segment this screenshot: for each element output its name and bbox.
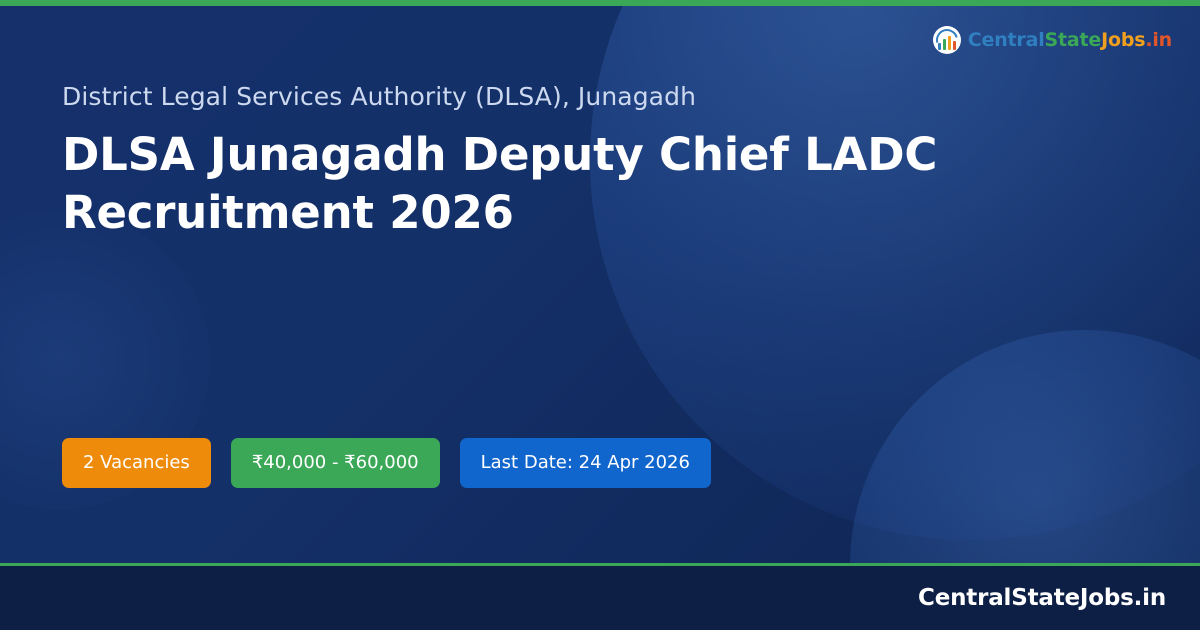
- logo-word-in: .in: [1145, 29, 1172, 51]
- organization-name: District Legal Services Authority (DLSA)…: [62, 82, 1042, 112]
- badge-last-date: Last Date: 24 Apr 2026: [460, 438, 711, 488]
- footer-bar: CentralStateJobs.in: [0, 566, 1200, 630]
- logo-word-jobs: Jobs: [1101, 29, 1145, 51]
- footer-site-name: CentralStateJobs.in: [918, 585, 1166, 611]
- poster-content: District Legal Services Authority (DLSA)…: [62, 82, 1042, 241]
- logo-word-central: Central: [968, 29, 1045, 51]
- job-poster: CentralStateJobs.in District Legal Servi…: [0, 0, 1200, 630]
- logo-wordmark: CentralStateJobs.in: [968, 31, 1172, 50]
- top-accent-rule: [0, 0, 1200, 6]
- logo-word-state: State: [1045, 29, 1102, 51]
- bar-chart-circle-icon: [933, 26, 961, 54]
- badge-row: 2 Vacancies ₹40,000 - ₹60,000 Last Date:…: [62, 438, 711, 488]
- site-logo[interactable]: CentralStateJobs.in: [933, 26, 1172, 54]
- page-title: DLSA Junagadh Deputy Chief LADC Recruitm…: [62, 126, 1042, 241]
- badge-vacancies: 2 Vacancies: [62, 438, 211, 488]
- badge-salary: ₹40,000 - ₹60,000: [231, 438, 440, 488]
